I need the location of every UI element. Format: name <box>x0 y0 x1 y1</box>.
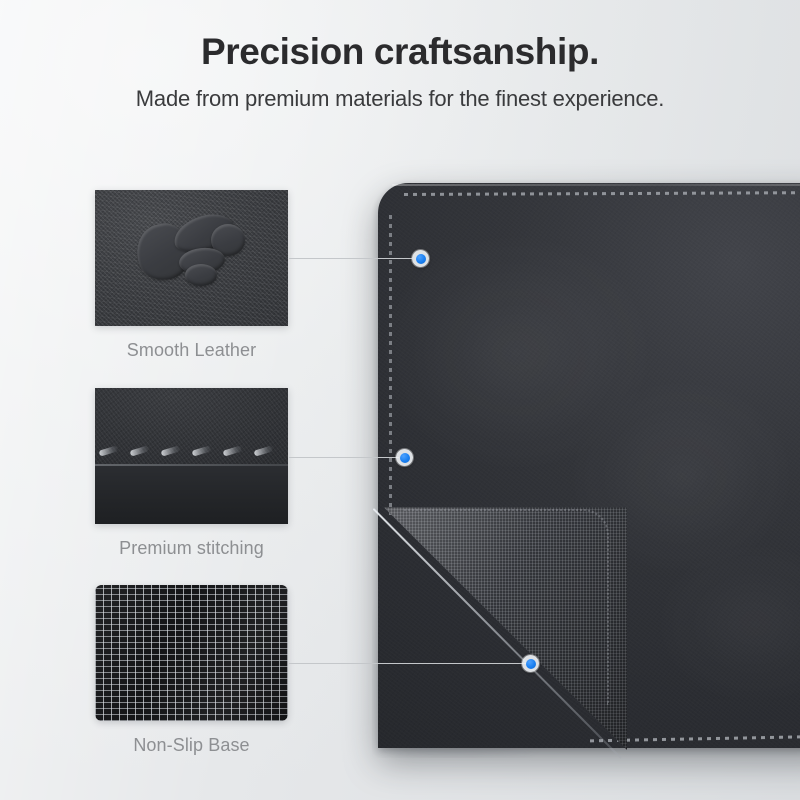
weave-sheen-overlay <box>95 585 288 721</box>
stitching-texture-thumbnail[interactable] <box>95 388 288 524</box>
marker-dot-icon <box>400 453 410 463</box>
marker-dot-icon <box>526 659 536 669</box>
callout-premium-stitching[interactable]: Premium stitching <box>95 388 288 559</box>
marker-non-slip-base[interactable] <box>522 655 539 672</box>
water-bead-icon <box>185 264 217 286</box>
page-subtitle: Made from premium materials for the fine… <box>0 86 800 112</box>
callout-smooth-leather[interactable]: Smooth Leather <box>95 190 288 361</box>
callout-label-smooth-leather: Smooth Leather <box>95 340 288 361</box>
page-title: Precision craftsanship. <box>0 31 800 73</box>
callout-label-non-slip-base: Non-Slip Base <box>95 735 288 756</box>
stitch-thread-row <box>95 444 288 466</box>
non-slip-weave-thumbnail[interactable] <box>95 585 288 721</box>
marker-dot-icon <box>416 254 426 264</box>
header: Precision craftsanship. Made from premiu… <box>0 0 800 112</box>
callout-non-slip-base[interactable]: Non-Slip Base <box>95 585 288 756</box>
leather-texture-thumbnail[interactable] <box>95 190 288 326</box>
infographic-canvas: Precision craftsanship. Made from premiu… <box>0 0 800 800</box>
marker-premium-stitching[interactable] <box>396 449 413 466</box>
leader-line-premium-stitching <box>289 457 399 458</box>
callout-label-premium-stitching: Premium stitching <box>95 538 288 559</box>
leather-lower-panel <box>95 466 288 524</box>
mat-top-edge-sheen <box>392 184 800 186</box>
leader-line-non-slip-base <box>289 663 527 664</box>
leader-line-smooth-leather <box>289 258 412 259</box>
marker-smooth-leather[interactable] <box>412 250 429 267</box>
